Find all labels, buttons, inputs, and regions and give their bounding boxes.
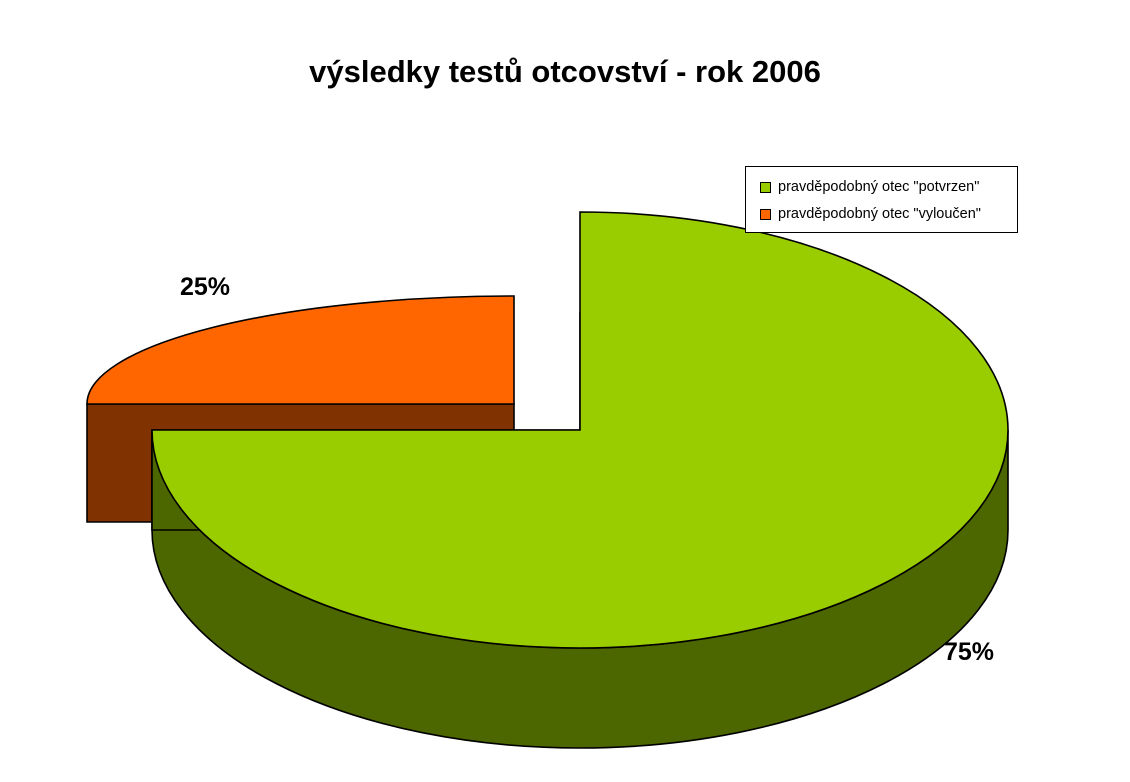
- orange-percent-label: 25%: [180, 273, 230, 302]
- green-percent-label: 75%: [944, 638, 994, 667]
- legend-item-potvrzen[interactable]: pravděpodobný otec "potvrzen": [760, 175, 1017, 200]
- legend-label-vyloucen: pravděpodobný otec "vyloučen": [778, 207, 981, 222]
- legend-item-vyloucen[interactable]: pravděpodobný otec "vyloučen": [760, 202, 1017, 227]
- legend-swatch-orange-icon: [760, 209, 771, 220]
- chart-legend: pravděpodobný otec "potvrzen" pravděpodo…: [745, 166, 1018, 233]
- chart-canvas: výsledky testů otcovství - rok 2006 25% …: [0, 0, 1130, 782]
- legend-label-potvrzen: pravděpodobný otec "potvrzen": [778, 180, 979, 195]
- green-slice-top: [152, 212, 1008, 648]
- orange-slice-top: [87, 296, 514, 404]
- legend-swatch-green-icon: [760, 182, 771, 193]
